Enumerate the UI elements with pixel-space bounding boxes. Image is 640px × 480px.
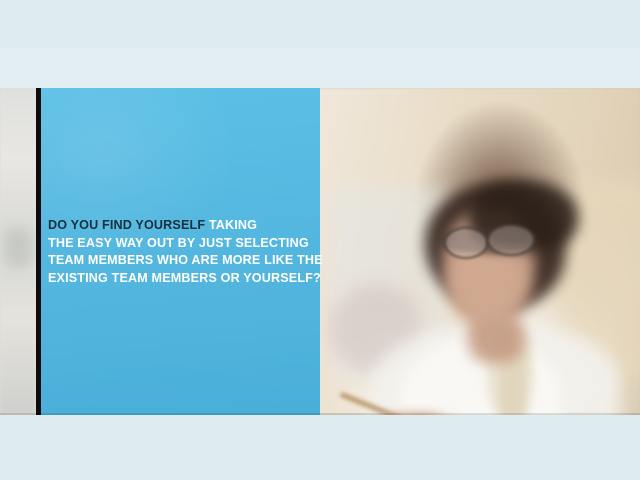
- caption-text-block: DO YOU FIND YOURSELF TAKING THE EASY WAY…: [48, 217, 316, 287]
- caption-line: TEAM MEMBERS WHO ARE MORE LIKE THE: [48, 252, 316, 270]
- app-window: TrainingBriefs® Selecting Diverse Candid…: [0, 0, 640, 480]
- slide-left-strip-blur: [6, 228, 30, 268]
- video-bottom-edge: [0, 413, 640, 415]
- photo-subject-glasses-left: [444, 227, 488, 259]
- photo-subject-glasses-right: [487, 224, 535, 256]
- caption-emphasis: DO YOU FIND YOURSELF: [48, 218, 205, 232]
- caption-line: DO YOU FIND YOURSELF TAKING: [48, 217, 316, 235]
- video-player[interactable]: DO YOU FIND YOURSELF TAKING THE EASY WAY…: [0, 88, 640, 415]
- caption-line: EXISTING TEAM MEMBERS OR YOURSELF?: [48, 270, 316, 288]
- top-bar: TrainingBriefs® Selecting Diverse Candid…: [0, 48, 640, 88]
- caption-line-rest: TAKING: [205, 218, 257, 232]
- caption-panel: DO YOU FIND YOURSELF TAKING THE EASY WAY…: [41, 88, 320, 415]
- caption-line: THE EASY WAY OUT BY JUST SELECTING: [48, 235, 316, 253]
- slide-left-strip: [0, 88, 36, 415]
